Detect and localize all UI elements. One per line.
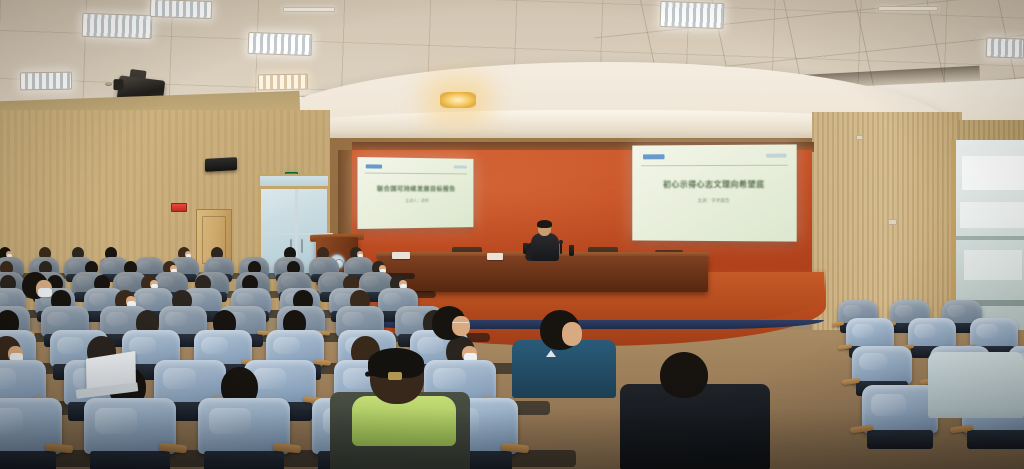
nameplate xyxy=(487,253,503,260)
slide-subtitle: 主讲：学术报告 xyxy=(632,198,796,204)
head-table xyxy=(378,256,708,292)
auditorium-seat[interactable] xyxy=(908,318,956,349)
corridor-window xyxy=(964,250,1022,280)
ceiling-light-panel xyxy=(20,72,72,91)
audience-face xyxy=(452,316,470,336)
slide-logo-mark xyxy=(766,154,786,158)
seat-base xyxy=(867,430,934,449)
audience-head xyxy=(660,352,708,398)
slide-logo-badge xyxy=(643,154,665,159)
ceiling-light-panel xyxy=(248,32,313,56)
slide-divider xyxy=(365,173,467,175)
ceiling-light-panel xyxy=(82,13,153,39)
smoke-detector-icon xyxy=(105,82,112,86)
seat-base xyxy=(90,451,171,469)
ceiling-light-panel xyxy=(986,37,1024,58)
recessed-downlight xyxy=(440,92,476,108)
loudspeaker-icon xyxy=(205,157,237,172)
eyeglasses-icon xyxy=(452,322,469,325)
auditorium-seat[interactable] xyxy=(970,318,1018,349)
adidas-logo-icon xyxy=(546,350,556,357)
microphone-icon xyxy=(560,243,562,254)
slide-title: 联合国可持续发展目标报告 xyxy=(357,184,473,193)
left-projection-screen: 联合国可持续发展目标报告 主讲人：讲师 xyxy=(357,157,473,229)
ceiling-light-panel xyxy=(150,0,213,19)
hair-clip xyxy=(388,372,402,380)
auditorium-photo: 联合国可持续发展目标报告 主讲人：讲师 初心示得心志文理向希望底 主讲：学术报告 xyxy=(0,0,1024,469)
slide-title: 初心示得心志文理向希望底 xyxy=(632,179,796,190)
ceiling-slim-light xyxy=(283,7,335,12)
person-in-pale-jacket xyxy=(928,352,1024,418)
door-handle[interactable] xyxy=(301,239,303,253)
auditorium-seat[interactable] xyxy=(846,318,894,349)
corridor-window xyxy=(960,202,1024,228)
seat-base xyxy=(0,451,56,469)
slide-divider xyxy=(641,165,787,167)
right-grooved-wood-wall xyxy=(812,112,962,342)
face-mask xyxy=(38,288,52,297)
presenter-body xyxy=(531,233,559,261)
person-in-dark-coat xyxy=(620,384,770,469)
auditorium-seat[interactable] xyxy=(852,346,912,384)
ceiling-light-panel xyxy=(258,74,308,91)
audience-face xyxy=(562,322,582,346)
fire-alarm-icon xyxy=(171,203,187,212)
seat-base xyxy=(204,451,285,469)
corridor-window xyxy=(962,156,1024,190)
wall-plate xyxy=(856,135,863,140)
slide-subtitle: 主讲人：讲师 xyxy=(357,198,473,204)
auditorium-seat[interactable] xyxy=(862,385,938,433)
slide-logo-badge xyxy=(366,164,382,168)
water-bottle xyxy=(569,245,574,256)
ceiling-light-panel xyxy=(660,1,725,29)
slide-logo-mark xyxy=(454,165,467,168)
light-switch[interactable] xyxy=(888,219,897,225)
window-sill xyxy=(956,236,1024,240)
presenter-hair xyxy=(537,220,552,228)
right-projection-screen: 初心示得心志文理向希望底 主讲：学术报告 xyxy=(632,144,796,241)
nameplate xyxy=(392,252,410,259)
ceiling-slim-light xyxy=(878,6,938,11)
seat-base xyxy=(967,430,1024,449)
